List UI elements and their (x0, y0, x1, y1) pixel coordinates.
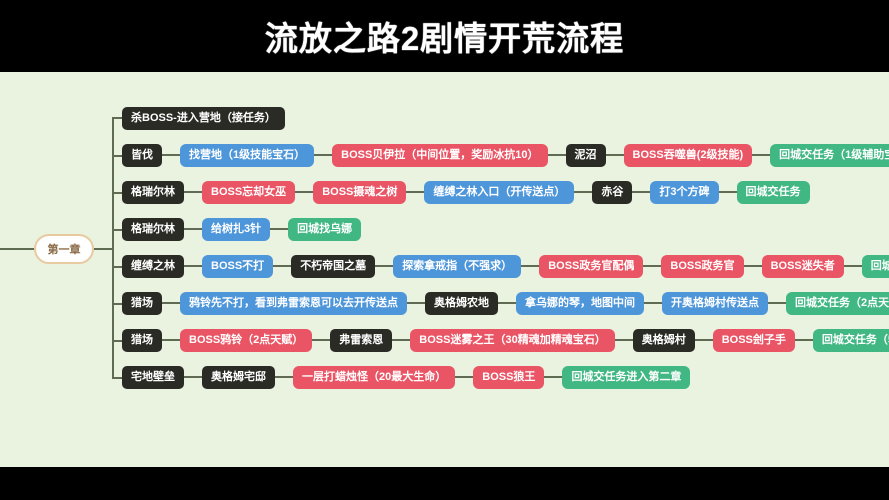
flow-node-label: BOSS不打 (211, 261, 264, 272)
flow-node-label: 格瑞尔林 (131, 224, 175, 235)
flow-node-label: 不朽帝国之墓 (300, 261, 366, 272)
connector-segment (162, 154, 180, 156)
flow-node-label: BOSS政务官 (670, 261, 734, 272)
flow-node-label: 回城交任务进入第二章 (571, 372, 681, 383)
flow-node-label: BOSS迷失者 (771, 261, 835, 272)
flow-row: 宅地壁垒奥格姆宅邸一层打蜡烛怪（20最大生命）BOSS狼王回城交任务进入第二章 (122, 365, 690, 389)
flow-node-label: 奥格姆宅邸 (211, 372, 266, 383)
flow-node[interactable]: 缠缚之林入口（开传送点） (424, 181, 574, 204)
flow-node-label: 皆伐 (131, 150, 153, 161)
flow-node-label: 奥格姆农地 (434, 298, 489, 309)
connector-segment (312, 339, 330, 341)
flow-node-label: 弗雷索恩 (339, 335, 383, 346)
connector-segment (643, 265, 661, 267)
flow-node[interactable]: 缠缚之林 (122, 255, 184, 278)
flow-node-label: 回城交任务 (746, 187, 801, 198)
bottom-letterbox (0, 467, 889, 500)
title-bar: 流放之路2剧情开荒流程 (0, 0, 889, 72)
flow-node-label: BOSS迷雾之王（30精魂加精魂宝石） (419, 335, 605, 346)
connector-segment (270, 228, 288, 230)
flow-node[interactable]: 开奥格姆村传送点 (662, 292, 768, 315)
flow-node-label: 回城交任务（5级技能宝石） (822, 335, 889, 346)
flow-node[interactable]: 格瑞尔林 (122, 181, 184, 204)
flow-node[interactable]: 给树扎3针 (202, 218, 270, 241)
flow-node-label: 拿乌娜的琴，地图中间 (525, 298, 635, 309)
flow-node-label: BOSS忘却女巫 (211, 187, 286, 198)
flow-node[interactable]: BOSS迷失者 (762, 255, 844, 278)
flow-node-label: 回城找乌娜 (297, 224, 352, 235)
flow-node[interactable]: BOSS狼王 (473, 366, 544, 389)
connector-segment (521, 265, 539, 267)
flow-node-label: 赤谷 (601, 187, 623, 198)
connector-segment (295, 191, 313, 193)
flow-node[interactable]: 回城交任务进入第二章 (562, 366, 690, 389)
flow-node[interactable]: 拿乌娜的琴，地图中间 (516, 292, 644, 315)
flow-row: 杀BOSS-进入营地（接任务） (122, 106, 285, 130)
flow-node-label: 猎场 (131, 298, 153, 309)
flow-node[interactable]: 回城交任务（2点天赋） (786, 292, 889, 315)
flow-node[interactable]: 打3个方碑 (650, 181, 718, 204)
flow-row: 猎场鸦铃先不打，看到弗雷索恩可以去开传送点奥格姆农地拿乌娜的琴，地图中间开奥格姆… (122, 291, 889, 315)
page-title: 流放之路2剧情开荒流程 (265, 12, 624, 60)
flow-row: 猎场BOSS鸦铃（2点天赋）弗雷索恩BOSS迷雾之王（30精魂加精魂宝石）奥格姆… (122, 328, 889, 352)
flow-node[interactable]: 不朽帝国之墓 (291, 255, 375, 278)
connector-branch-3 (112, 229, 122, 231)
flow-node[interactable]: 奥格姆农地 (425, 292, 498, 315)
flow-node[interactable]: 奥格姆宅邸 (202, 366, 275, 389)
connector-segment (548, 154, 566, 156)
flow-node[interactable]: 赤谷 (592, 181, 632, 204)
connector-segment (644, 302, 662, 304)
flow-node-label: 猎场 (131, 335, 153, 346)
flow-node-label: BOSS吞噬兽(2级技能) (633, 150, 744, 161)
flow-node[interactable]: BOSS刽子手 (713, 329, 795, 352)
flow-row: 缠缚之林BOSS不打不朽帝国之墓探索拿戒指（不强求）BOSS政务官配偶BOSS政… (122, 254, 889, 278)
flow-node-label: BOSS狼王 (482, 372, 535, 383)
flow-node[interactable]: BOSS贝伊拉（中间位置，奖励冰抗10） (332, 144, 547, 167)
flow-node[interactable]: BOSS政务官配偶 (539, 255, 643, 278)
flow-node-label: 泥沼 (575, 150, 597, 161)
flowchart-canvas: 第一章 杀BOSS-进入营地（接任务） 皆伐找营地（1级技能宝石）BOSS贝伊拉… (0, 72, 889, 467)
connector-segment (455, 376, 473, 378)
flow-node[interactable]: 格瑞尔林 (122, 218, 184, 241)
flow-row: 格瑞尔林BOSS忘却女巫BOSS摄魂之树缠缚之林入口（开传送点）赤谷打3个方碑回… (122, 180, 810, 204)
connector-segment (184, 191, 202, 193)
flow-node[interactable]: 鸦铃先不打，看到弗雷索恩可以去开传送点 (180, 292, 407, 315)
flow-node-label: BOSS贝伊拉（中间位置，奖励冰抗10） (341, 150, 538, 161)
flow-node-label: 格瑞尔林 (131, 187, 175, 198)
connector-segment (162, 339, 180, 341)
connector-segment (184, 265, 202, 267)
flow-node[interactable]: 宅地壁垒 (122, 366, 184, 389)
connector-segment (752, 154, 770, 156)
connector-segment (275, 376, 293, 378)
connector-segment (314, 154, 332, 156)
flow-node-label: BOSS鸦铃（2点天赋） (189, 335, 303, 346)
connector-branch-0 (112, 117, 122, 119)
flow-node[interactable]: BOSS不打 (202, 255, 273, 278)
connector-segment (184, 376, 202, 378)
flow-node-label: 回城交任务（2点天赋） (795, 298, 889, 309)
connector-branch-1 (112, 155, 122, 157)
connector-segment (407, 302, 425, 304)
connector-branch-2 (112, 192, 122, 194)
root-node-chapter-one[interactable]: 第一章 (34, 234, 94, 264)
flow-node[interactable]: 猎场 (122, 329, 162, 352)
flow-node[interactable]: 回城交任务 (737, 181, 810, 204)
flow-node[interactable]: 弗雷索恩 (330, 329, 392, 352)
flow-node[interactable]: BOSS忘却女巫 (202, 181, 295, 204)
connector-segment (574, 191, 592, 193)
flow-node[interactable]: 找营地（1级技能宝石） (180, 144, 314, 167)
connector-segment (273, 265, 291, 267)
flow-node[interactable]: 回城交任务（5级技能宝石） (813, 329, 889, 352)
connector-segment (544, 376, 562, 378)
flow-node-label: 缠缚之林 (131, 261, 175, 272)
flow-node-label: 给树扎3针 (211, 224, 261, 235)
connector-branch-4 (112, 266, 122, 268)
flow-node[interactable]: BOSS迷雾之王（30精魂加精魂宝石） (410, 329, 614, 352)
connector-segment (392, 339, 410, 341)
flow-node-label: 缠缚之林入口（开传送点） (433, 187, 565, 198)
flow-node[interactable]: BOSS吞噬兽(2级技能) (624, 144, 753, 167)
flow-node-label: 开奥格姆村传送点 (671, 298, 759, 309)
flow-node-label: BOSS摄魂之树 (322, 187, 397, 198)
flow-node-label: 一层打蜡烛怪（20最大生命） (302, 372, 446, 383)
screenshot-root: 流放之路2剧情开荒流程 第一章 杀BOSS-进入营地（接任务） 皆伐找营地（1级… (0, 0, 889, 500)
flow-row: 皆伐找营地（1级技能宝石）BOSS贝伊拉（中间位置，奖励冰抗10）泥沼BOSS吞… (122, 143, 889, 167)
connector-branch-6 (112, 340, 122, 342)
flow-row: 格瑞尔林给树扎3针回城找乌娜 (122, 217, 361, 241)
connector-segment (498, 302, 516, 304)
flow-node-label: BOSS政务官配偶 (548, 261, 634, 272)
connector-root-stub-left (0, 248, 34, 250)
flow-node[interactable]: BOSS摄魂之树 (313, 181, 406, 204)
connector-segment (606, 154, 624, 156)
flow-node-label: 奥格姆村 (642, 335, 686, 346)
flow-node[interactable]: BOSS政务官 (661, 255, 743, 278)
connector-segment (719, 191, 737, 193)
flow-node-label: 探索拿戒指（不强求） (402, 261, 512, 272)
flow-node-label: 打3个方碑 (659, 187, 709, 198)
connector-segment (632, 191, 650, 193)
flow-node-label: 宅地壁垒 (131, 372, 175, 383)
flow-node[interactable]: 奥格姆村 (633, 329, 695, 352)
flow-node-label: 杀BOSS-进入营地（接任务） (131, 113, 276, 124)
connector-segment (768, 302, 786, 304)
flow-node[interactable]: 回城找乌娜 (288, 218, 361, 241)
root-node-label: 第一章 (48, 241, 81, 257)
flow-node-label: 找营地（1级技能宝石） (189, 150, 305, 161)
connector-root-stub-right (94, 248, 112, 250)
flow-node-label: BOSS刽子手 (722, 335, 786, 346)
connector-segment (695, 339, 713, 341)
flow-node-label: 鸦铃先不打，看到弗雷索恩可以去开传送点 (189, 298, 398, 309)
flow-node-label: 回城交任务（1级辅助宝石） (779, 150, 889, 161)
connector-branch-5 (112, 303, 122, 305)
flow-node[interactable]: 回城交任务（1级辅助宝石） (770, 144, 889, 167)
flow-node[interactable]: 泥沼 (566, 144, 606, 167)
connector-segment (744, 265, 762, 267)
connector-segment (615, 339, 633, 341)
connector-segment (844, 265, 862, 267)
flow-node[interactable]: BOSS鸦铃（2点天赋） (180, 329, 312, 352)
connector-segment (406, 191, 424, 193)
flow-node[interactable]: 猎场 (122, 292, 162, 315)
connector-segment (795, 339, 813, 341)
connector-branch-7 (112, 377, 122, 379)
flow-node[interactable]: 皆伐 (122, 144, 162, 167)
connector-segment (184, 228, 202, 230)
flow-node-label: 回城交任务 (871, 261, 889, 272)
flow-node[interactable]: 杀BOSS-进入营地（接任务） (122, 107, 285, 130)
connector-segment (162, 302, 180, 304)
flow-node[interactable]: 一层打蜡烛怪（20最大生命） (293, 366, 455, 389)
connector-segment (375, 265, 393, 267)
flow-node[interactable]: 探索拿戒指（不强求） (393, 255, 521, 278)
flow-node[interactable]: 回城交任务 (862, 255, 889, 278)
